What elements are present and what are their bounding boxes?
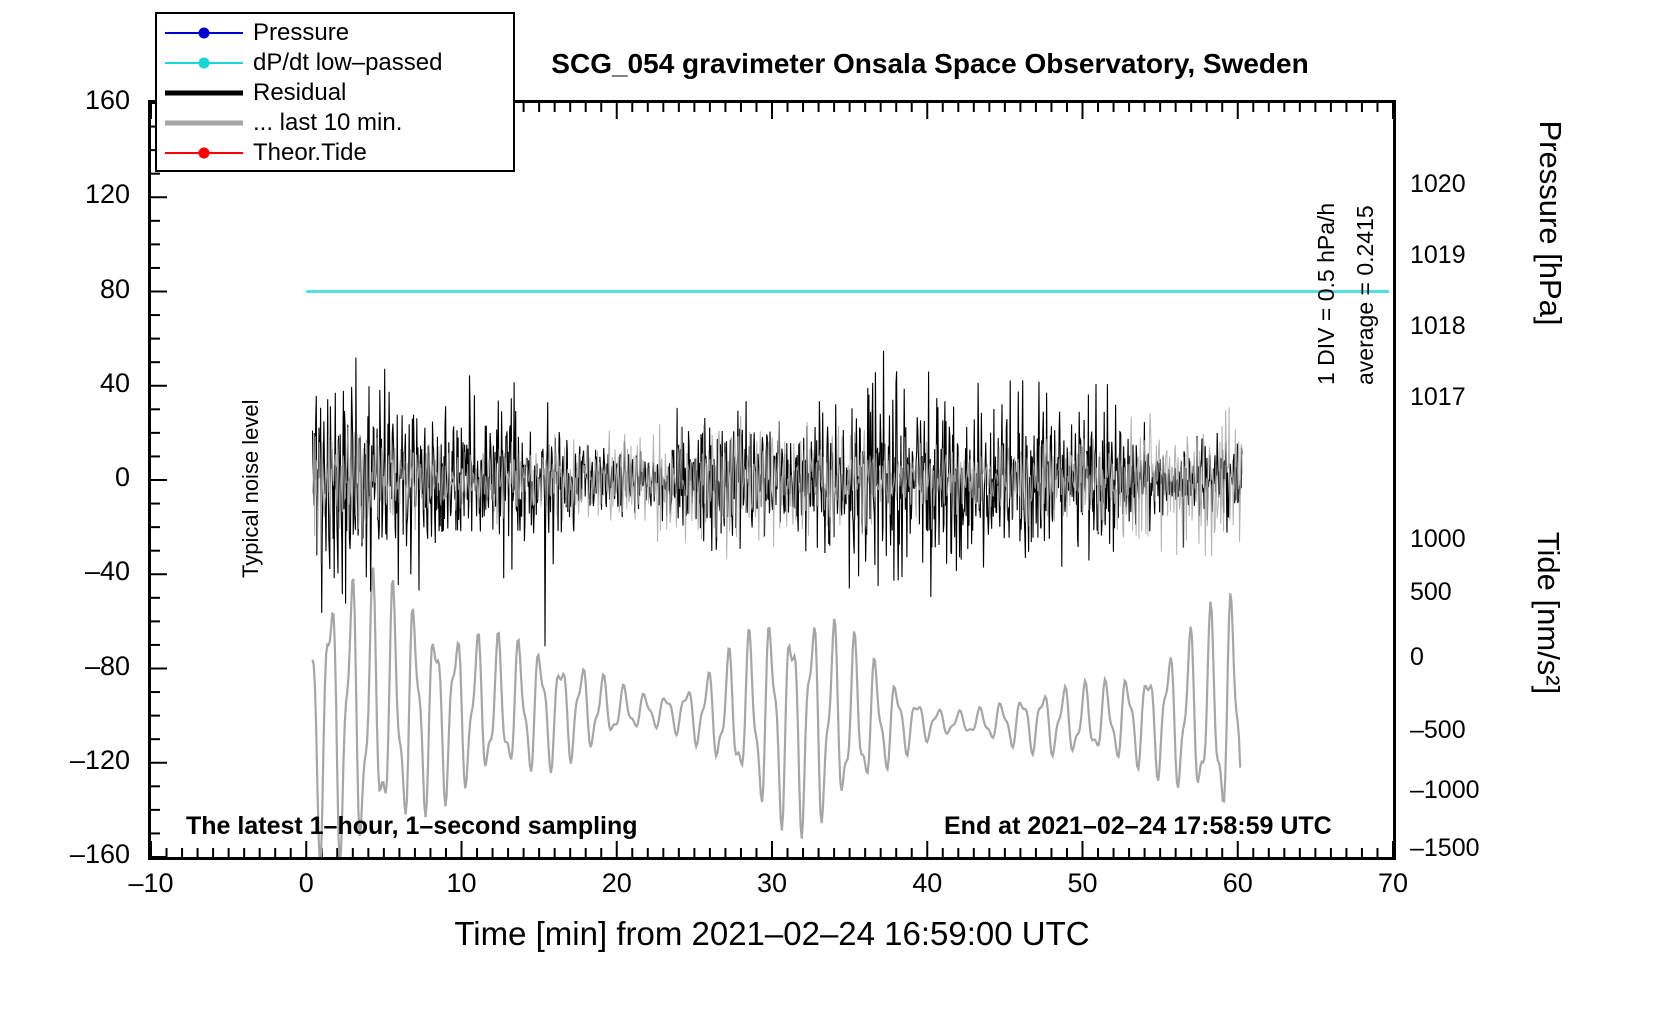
legend: PressuredP/dt low–passedResidual... last… xyxy=(155,12,515,172)
y-tick-label: 0 xyxy=(20,462,130,493)
tide-tick-label: 0 xyxy=(1410,643,1424,672)
legend-item[interactable]: dP/dt low–passed xyxy=(157,48,513,78)
x-tick-label: 20 xyxy=(567,868,667,899)
tide-tick-label: –500 xyxy=(1410,716,1466,745)
right-axis-title-pressure: Pressure [hPa] xyxy=(1532,58,1568,388)
page-title: SCG_054 gravimeter Onsala Space Observat… xyxy=(430,48,1430,80)
legend-marker-dot xyxy=(199,28,210,39)
tide-tick-label: –1000 xyxy=(1410,776,1480,805)
legend-label: ... last 10 min. xyxy=(243,109,402,137)
x-tick-label: 10 xyxy=(412,868,512,899)
y-tick-label: –80 xyxy=(20,651,130,682)
legend-swatch xyxy=(165,141,243,165)
tide-tick-label: –1500 xyxy=(1410,834,1480,863)
y-tick-label: –40 xyxy=(20,556,130,587)
y-tick-label: 40 xyxy=(20,368,130,399)
pressure-tick-label: 1018 xyxy=(1410,312,1466,341)
residual-trace xyxy=(313,351,1243,647)
x-tick-label: 50 xyxy=(1033,868,1133,899)
tide-tick-label: 500 xyxy=(1410,578,1452,607)
y-tick-label: 120 xyxy=(20,179,130,210)
legend-swatch xyxy=(165,81,243,105)
legend-label: Residual xyxy=(243,79,346,107)
footer-left-note: The latest 1–hour, 1–second sampling xyxy=(186,812,638,841)
legend-swatch xyxy=(165,21,243,45)
typical-noise-level-label: Typical noise level xyxy=(238,399,264,578)
x-tick-label: 40 xyxy=(877,868,977,899)
y-tick-label: –160 xyxy=(20,839,130,870)
dpdt-average-label: average = 0.2415 xyxy=(1352,205,1379,385)
tide-tick-label: 1000 xyxy=(1410,525,1466,554)
y-tick-label: 80 xyxy=(20,274,130,305)
legend-item[interactable]: Pressure xyxy=(157,18,513,48)
legend-item[interactable]: ... last 10 min. xyxy=(157,108,513,138)
x-axis-title: Time [min] from 2021–02–24 16:59:00 UTC xyxy=(148,915,1396,953)
plot-canvas xyxy=(151,103,1393,857)
legend-label: Theor.Tide xyxy=(243,139,367,167)
chart-page: SCG_054 gravimeter Onsala Space Observat… xyxy=(0,0,1660,1020)
legend-line xyxy=(165,91,243,96)
legend-marker-dot xyxy=(199,58,210,69)
pressure-tick-label: 1020 xyxy=(1410,170,1466,199)
right-axis-title-tide: Tide [nm/s²] xyxy=(1530,448,1566,778)
footer-right-note: End at 2021–02–24 17:58:59 UTC xyxy=(944,812,1332,841)
x-tick-label: –10 xyxy=(101,868,201,899)
legend-line xyxy=(165,121,243,126)
legend-swatch xyxy=(165,51,243,75)
y-tick-label: 160 xyxy=(20,85,130,116)
x-tick-label: 70 xyxy=(1343,868,1443,899)
legend-item[interactable]: Residual xyxy=(157,78,513,108)
legend-label: dP/dt low–passed xyxy=(243,49,442,77)
dpdt-div-label: 1 DIV = 0.5 hPa/h xyxy=(1313,203,1340,385)
legend-item[interactable]: Theor.Tide xyxy=(157,138,513,168)
pressure-tick-label: 1017 xyxy=(1410,383,1466,412)
legend-swatch xyxy=(165,111,243,135)
x-tick-label: 0 xyxy=(256,868,356,899)
x-tick-label: 30 xyxy=(722,868,822,899)
pressure-tick-label: 1019 xyxy=(1410,241,1466,270)
plot-area xyxy=(148,100,1396,860)
legend-marker-dot xyxy=(199,148,210,159)
x-tick-label: 60 xyxy=(1188,868,1288,899)
y-tick-label: –120 xyxy=(20,745,130,776)
legend-label: Pressure xyxy=(243,19,349,47)
